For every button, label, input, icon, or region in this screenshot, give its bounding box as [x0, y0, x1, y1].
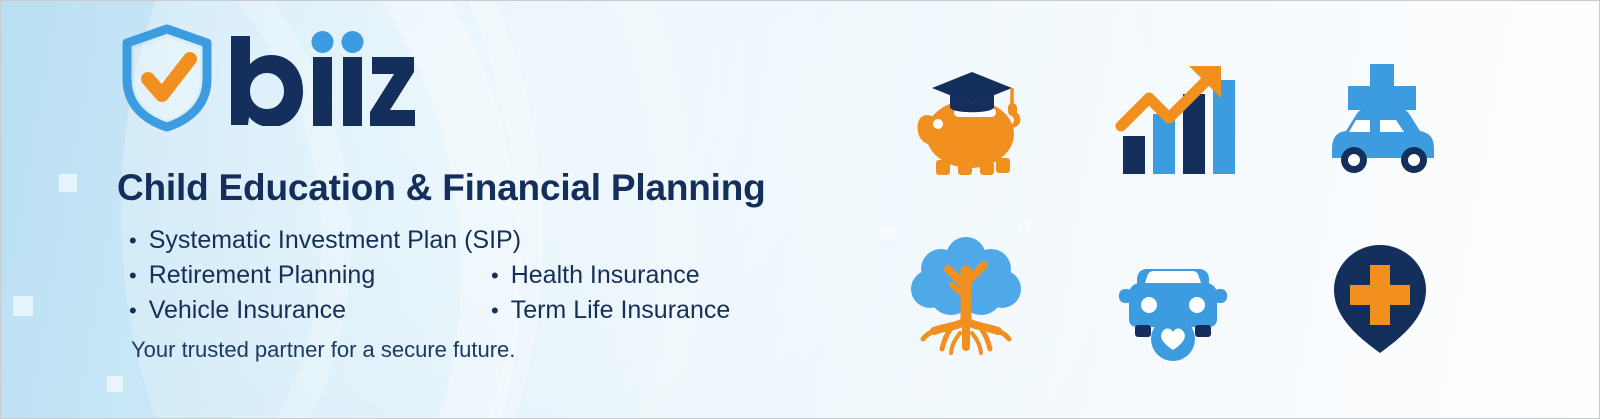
icon-cell	[1093, 222, 1253, 372]
promo-banner: Child Education & Financial Planning • S…	[0, 0, 1600, 419]
brand-logo	[119, 23, 415, 133]
bullet-marker: •	[129, 293, 137, 328]
icon-grid	[863, 31, 1483, 386]
icon-cell	[886, 222, 1046, 372]
car-heart-icon	[1103, 227, 1243, 367]
bullet-marker: •	[129, 258, 137, 293]
list-item-label: Term Life Insurance	[511, 293, 731, 328]
location-pin-medical-cross-icon	[1310, 227, 1450, 367]
bullet-marker: •	[129, 223, 137, 258]
page-title: Child Education & Financial Planning	[117, 167, 766, 209]
feature-row: • Systematic Investment Plan (SIP)	[129, 223, 829, 258]
list-item: • Systematic Investment Plan (SIP)	[129, 223, 521, 258]
car-medical-cross-icon	[1310, 50, 1450, 190]
feature-row: • Retirement Planning • Health Insurance	[129, 258, 829, 293]
list-item-label: Vehicle Insurance	[149, 293, 346, 328]
list-item: • Retirement Planning	[129, 258, 375, 293]
shield-check-icon	[119, 23, 215, 133]
bullet-marker: •	[491, 258, 499, 293]
tree-roots-icon	[896, 227, 1036, 367]
growth-bar-chart-arrow-icon	[1103, 50, 1243, 190]
feature-list: • Systematic Investment Plan (SIP) • Ret…	[129, 223, 829, 328]
list-item: • Term Life Insurance	[491, 293, 730, 328]
list-item-label: Systematic Investment Plan (SIP)	[149, 223, 521, 258]
list-item: • Vehicle Insurance	[129, 293, 346, 328]
list-item-label: Retirement Planning	[149, 258, 376, 293]
piggy-bank-graduation-cap-icon	[896, 50, 1036, 190]
banner-content: Child Education & Financial Planning • S…	[1, 1, 861, 418]
brand-wordmark	[225, 30, 415, 126]
tagline: Your trusted partner for a secure future…	[131, 337, 515, 363]
icon-cell	[1093, 45, 1253, 195]
icon-cell	[886, 45, 1046, 195]
list-item: • Health Insurance	[491, 258, 700, 293]
bullet-marker: •	[491, 293, 499, 328]
icon-cell	[1300, 45, 1460, 195]
feature-row: • Vehicle Insurance • Term Life Insuranc…	[129, 293, 829, 328]
list-item-label: Health Insurance	[511, 258, 700, 293]
icon-cell	[1300, 222, 1460, 372]
